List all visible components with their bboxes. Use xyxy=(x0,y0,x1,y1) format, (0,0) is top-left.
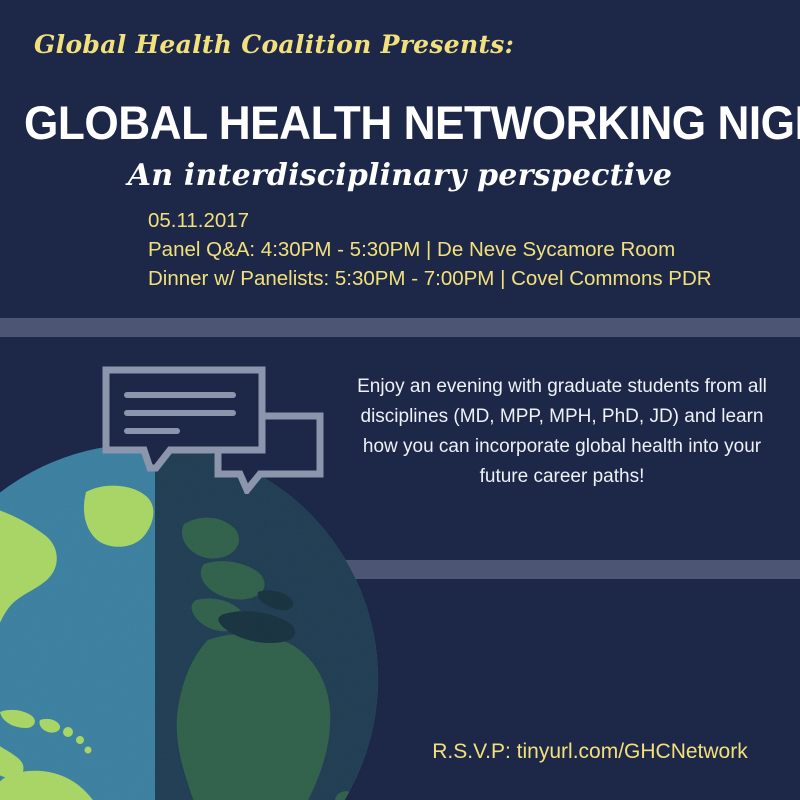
speech-bubbles-graphic xyxy=(100,364,340,494)
speech-bubble-with-text-lines xyxy=(106,370,262,468)
event-date: 05.11.2017 xyxy=(148,206,712,235)
poster-subtitle: An interdisciplinary perspective xyxy=(0,158,800,193)
globe-illustration xyxy=(0,444,378,800)
rsvp-link[interactable]: R.S.V.P: tinyurl.com/GHCNetwork xyxy=(420,740,760,764)
event-description: Enjoy an evening with graduate students … xyxy=(352,372,772,492)
event-panel-schedule: Panel Q&A: 4:30PM - 5:30PM | De Neve Syc… xyxy=(148,235,712,264)
presenter-line: Global Health Coalition Presents: xyxy=(34,30,514,59)
event-dinner-schedule: Dinner w/ Panelists: 5:30PM - 7:00PM | C… xyxy=(148,264,712,293)
page-title: GLOBAL HEALTH NETWORKING NIGHT xyxy=(24,98,776,148)
divider-band-top xyxy=(0,318,800,337)
event-poster: Global Health Coalition Presents: GLOBAL… xyxy=(0,0,800,800)
event-details: 05.11.2017 Panel Q&A: 4:30PM - 5:30PM | … xyxy=(148,206,712,293)
